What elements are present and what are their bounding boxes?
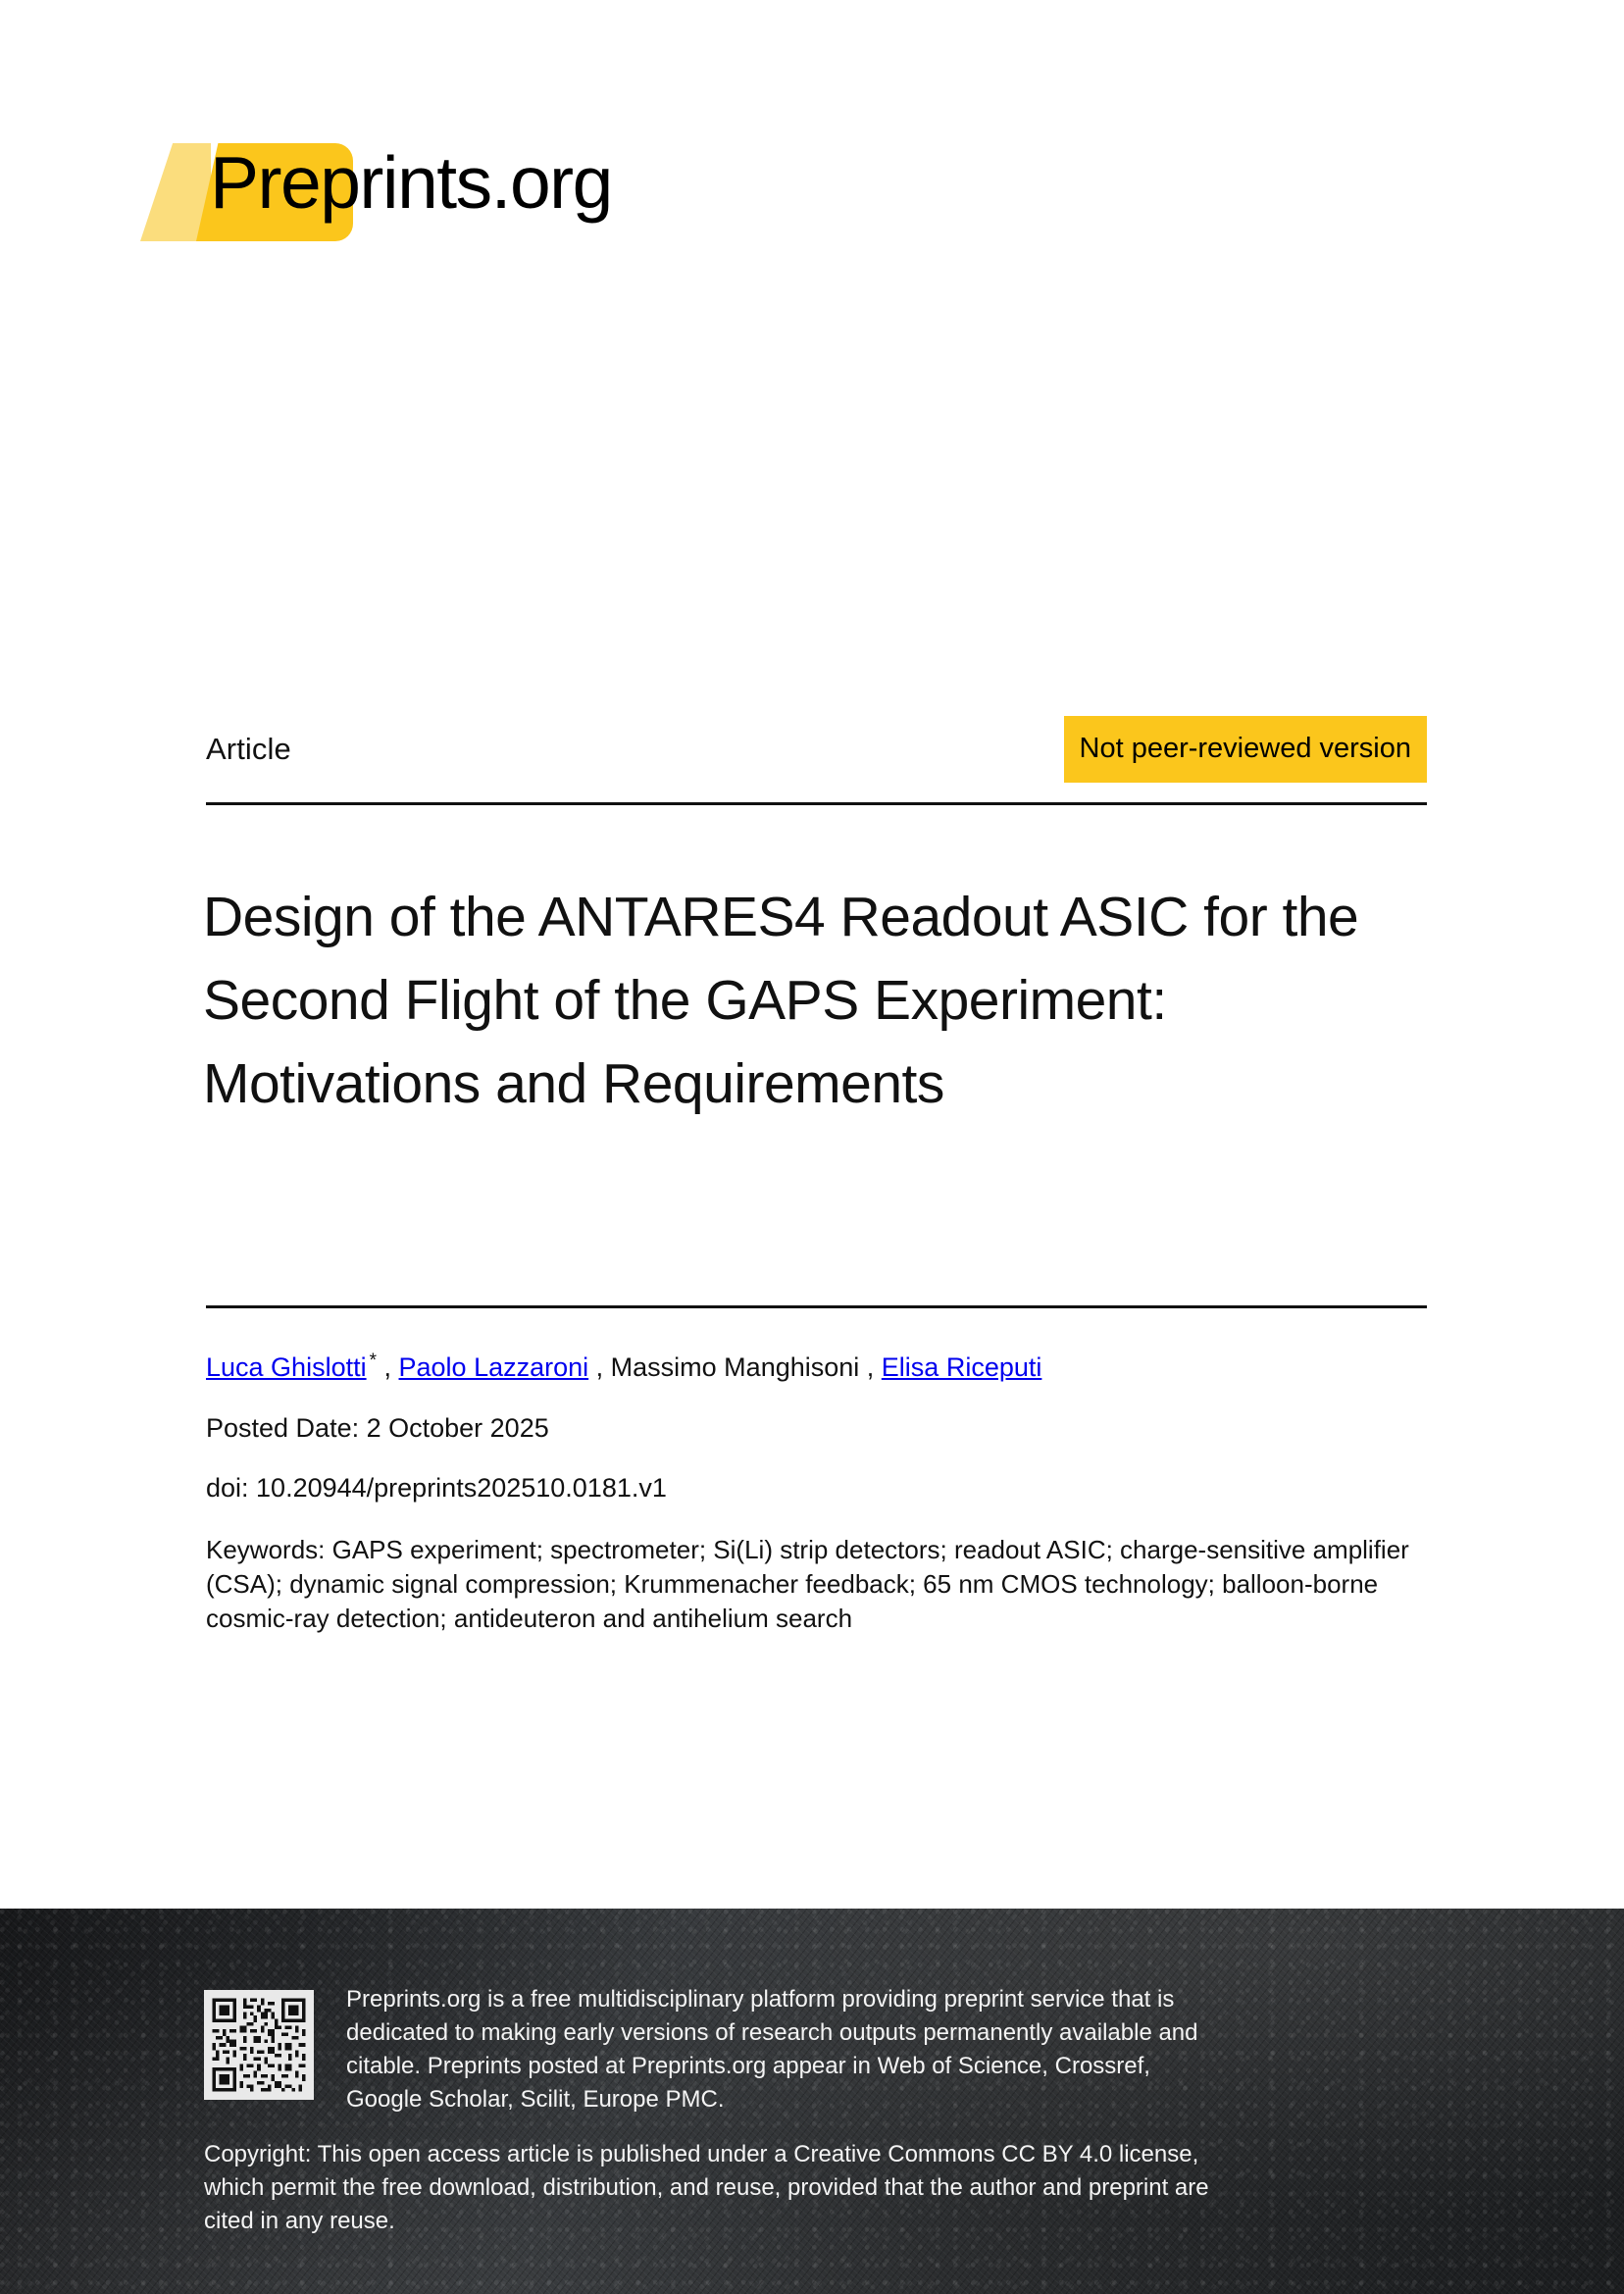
status-badge: Not peer-reviewed version [1064,716,1427,783]
author-name[interactable]: Paolo Lazzaroni [399,1352,589,1382]
divider-top [206,802,1427,805]
article-meta: Luca Ghislotti* , Paolo Lazzaroni , Mass… [206,1344,1432,1636]
qr-code-icon[interactable] [204,1990,314,2100]
article-type-label: Article [206,732,291,767]
author-list: Luca Ghislotti* , Paolo Lazzaroni , Mass… [206,1344,1432,1385]
preprints-logo[interactable]: Preprints.org [140,127,612,237]
author-name[interactable]: Elisa Riceputi [882,1352,1042,1382]
author-name: Massimo Manghisoni [611,1352,860,1382]
doi-text: doi: 10.20944/preprints202510.0181.v1 [206,1471,1432,1504]
logo-mark: Preprints.org [140,133,612,231]
author-name[interactable]: Luca Ghislotti [206,1352,367,1382]
author-separator: , [859,1352,882,1382]
logo-wordmark: Preprints.org [140,133,612,231]
posted-date: Posted Date: 2 October 2025 [206,1411,1432,1445]
author-separator: , [377,1352,399,1382]
preprint-cover-page: Preprints.org Article Not peer-reviewed … [0,0,1624,2294]
keywords-text: Keywords: GAPS experiment; spectrometer;… [206,1533,1417,1636]
page-title: Design of the ANTARES4 Readout ASIC for … [203,876,1439,1126]
footer-about-text: Preprints.org is a free multidisciplinar… [346,1983,1204,2116]
logo-highlight-text: Pre [210,141,320,224]
article-type-row: Article Not peer-reviewed version [206,714,1427,785]
divider-middle [206,1305,1427,1308]
author-separator: , [588,1352,611,1382]
footer-copyright-text: Copyright: This open access article is p… [204,2138,1234,2238]
corresponding-author-marker: * [367,1351,377,1371]
logo-rest-text: prints.org [320,141,612,224]
